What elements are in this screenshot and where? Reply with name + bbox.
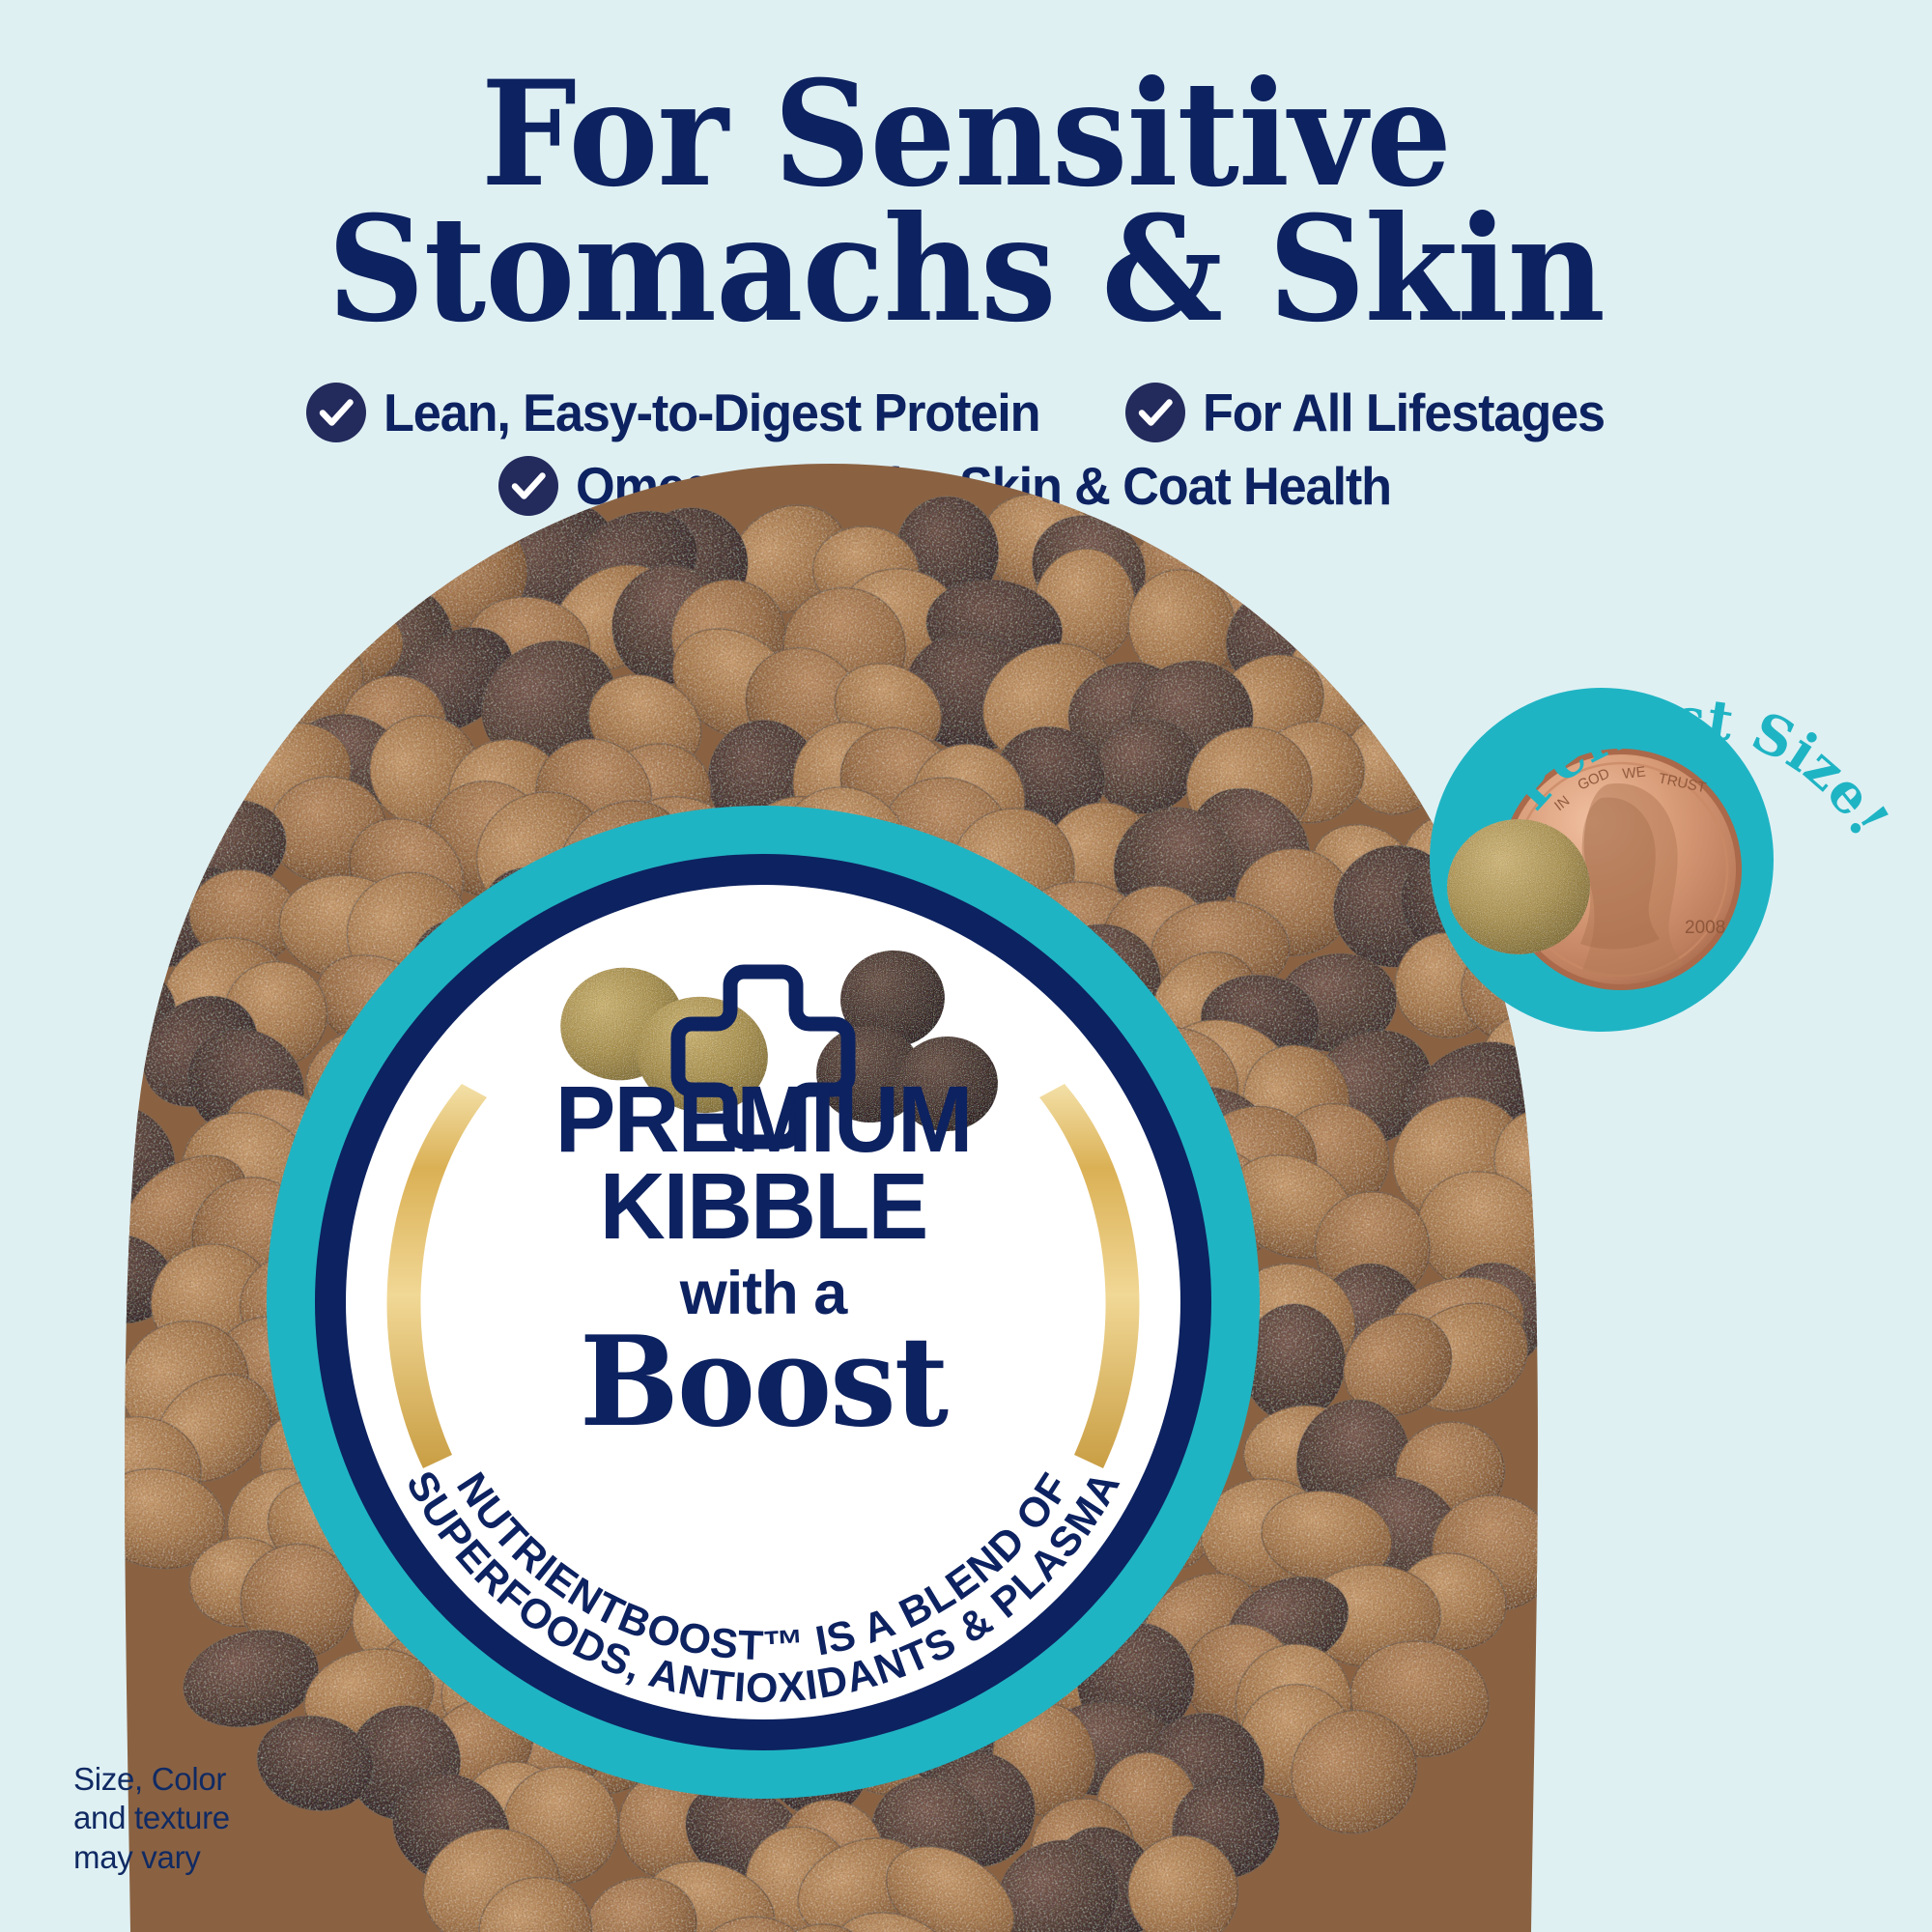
bullet-item-lifestages: For All Lifestages	[1125, 382, 1626, 443]
coin-motto-we: WE	[1622, 764, 1647, 782]
headline-line-2: Stomachs & Skin	[68, 203, 1864, 338]
check-circle-icon	[1125, 383, 1185, 442]
page-title: For Sensitive Stomachs & Skin	[68, 68, 1864, 337]
disclaimer-text: Size, Color and texture may vary	[73, 1760, 230, 1877]
bullet-item-protein: Lean, Easy-to-Digest Protein	[306, 382, 1074, 443]
disclaimer-line-2: and texture	[73, 1799, 230, 1837]
bullet-label: Lean, Easy-to-Digest Protein	[384, 382, 1039, 443]
perfect-size-callout: IN GOD WE TRUST 2008 Perfect Size!	[1418, 580, 1932, 1063]
kibble-piece	[273, 596, 404, 689]
bullet-label: For All Lifestages	[1203, 382, 1605, 443]
check-circle-icon	[306, 383, 366, 442]
badge-white-face	[346, 885, 1180, 1719]
bullet-row: Lean, Easy-to-Digest Protein For All Lif…	[306, 382, 1625, 443]
disclaimer-line-1: Size, Color	[73, 1760, 230, 1799]
premium-kibble-badge: NUTRIENTBOOST™ IS A BLEND OF SUPERFOODS,…	[263, 802, 1264, 1803]
perfect-size-kibble	[1447, 819, 1590, 954]
product-graphic-canvas: For Sensitive Stomachs & Skin Lean, Easy…	[0, 0, 1932, 1932]
disclaimer-line-3: may vary	[73, 1838, 230, 1877]
coin-year: 2008	[1685, 918, 1725, 938]
